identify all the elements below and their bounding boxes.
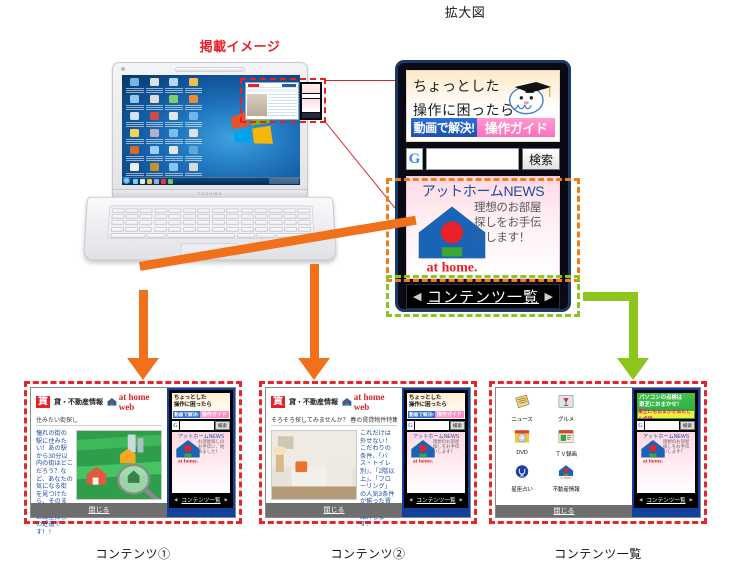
icon-item-dvd[interactable]: DVD (500, 429, 544, 458)
panel2-header-title: 貸・不動産情報 (289, 397, 338, 407)
green-arrow-stem (629, 292, 638, 362)
panel2-mini-news-copy: 理想のお部屋探しをお手伝いします！ (433, 439, 463, 455)
webcam-icon (121, 67, 125, 71)
icon-label-gourmet: グルメ (544, 415, 588, 423)
panel2-mini-prev-icon[interactable]: ◀ (409, 497, 412, 503)
panel2-google-g-icon: G (407, 421, 414, 430)
orange-dashed-highlight (386, 178, 580, 282)
icon-label-dvd: DVD (500, 450, 544, 456)
content-panel-2[interactable]: 賃 貸・不動産情報 at home web そろそろ探してみませんか？ 春の賃貸… (259, 381, 477, 524)
panel2-mini-banner-line2: 操作に困ったら (409, 402, 465, 408)
wine-glass-icon (558, 394, 574, 409)
mini-popup-window (245, 82, 299, 120)
panel3-mini-banner-line1: パソコンの点検は (639, 395, 695, 401)
panel2-thumbnail[interactable] (271, 430, 357, 500)
orange-arrow-mid-head (298, 358, 330, 380)
content-panel-3[interactable]: ニュース グルメ (489, 381, 707, 524)
panel3-mini-next-icon[interactable]: ▶ (690, 497, 693, 503)
icon-item-news[interactable]: ニュース (500, 394, 544, 423)
tag-video-solution: 動画で解決! (411, 118, 477, 137)
content-panel-1[interactable]: 賃 貸・不動産情報 at home web 住みたい街探し 憧れの街の駅に住みた… (24, 381, 242, 524)
ghost-graduate-mascot-icon (503, 77, 553, 117)
panel1-mini-bar[interactable]: ◀ コンテンツ一覧 ▶ (172, 495, 230, 505)
panel1-header-title: 貸・不動産情報 (54, 397, 103, 407)
panel3-icon-grid: ニュース グルメ (496, 388, 632, 505)
icon-label-tv-recording: ＴＶ録画 (544, 450, 588, 458)
panel2-body: これだけは外せない！こだわりの条件、「バス・トイレ別」、「2階以上」、「フローリ… (266, 427, 402, 503)
panel1-body: 憧れの街の駅に住みたい！あの駅から30分以内の街はどこだろう？など、あなたの気に… (31, 427, 167, 503)
panel2-mini-search-button[interactable]: 検索 (450, 421, 465, 430)
panel2-main: 賃 貸・不動産情報 at home web そろそろ探してみませんか？ 春の賃貸… (266, 388, 402, 517)
panel1-subbar: 住みたい街探し (36, 415, 162, 426)
icon-label-news: ニュース (500, 415, 544, 423)
mini-side-banner (300, 82, 322, 120)
published-image-title: 掲載イメージ (175, 36, 305, 55)
tv-recording-icon (558, 429, 574, 444)
panel3-footer: 閉じる (496, 505, 632, 517)
panel2-mini-search-input[interactable] (415, 421, 449, 430)
panel2-mini-phone: ちょっとした 操作に困ったら 動画で解決! 操作ガイド G 検索 アットホームN… (404, 390, 468, 508)
guide-banner-tags: 動画で解決! 操作ガイド (411, 118, 555, 137)
panel1-mini-tag2: 操作ガイド (200, 411, 229, 418)
panel3-main: ニュース グルメ (496, 388, 632, 517)
panel2-close-link[interactable]: 閉じる (324, 505, 345, 515)
icon-label-realestate: 不動産情報 (544, 485, 588, 493)
panel2-mini-tag2: 操作ガイド (435, 411, 464, 418)
green-arrow-head (617, 358, 649, 380)
svg-text:at home.: at home. (643, 459, 664, 464)
panel1-side: ちょっとした 操作に困ったら 動画で解決! 操作ガイド G 検索 アットホームN… (167, 388, 235, 517)
icon-item-realestate[interactable]: at home 不動産情報 (544, 464, 588, 493)
at-home-house-icon (107, 397, 117, 407)
svg-text:at home.: at home. (178, 459, 199, 464)
panel2-mini-search: G 検索 (407, 421, 465, 430)
panel2-badge: 賃 (271, 396, 285, 408)
panel2-footer: 閉じる (266, 503, 402, 517)
laptop-bezel-strip (175, 67, 245, 72)
orange-arrow-mid-stem (310, 264, 319, 362)
panel2-caption: コンテンツ② (298, 545, 438, 562)
panel2-mini-bar[interactable]: ◀ コンテンツ一覧 ▶ (407, 495, 465, 505)
panel1-header: 賃 貸・不動産情報 at home web (31, 388, 167, 414)
panel3-google-g-icon: G (637, 421, 644, 430)
house-icon: at home (558, 464, 574, 479)
panel3-mini-phone: パソコンの点検は 東芝におまかせ！ 東芝にもおまかせあんしん点検 G 検索 アッ… (634, 390, 698, 508)
laptop-keyboard (107, 205, 314, 239)
panel2-brand-text: at home web (354, 392, 397, 412)
zoom-view-title: 拡大図 (405, 2, 525, 21)
panel1-mini-bar-label[interactable]: コンテンツ一覧 (181, 496, 220, 504)
icon-item-horoscope[interactable]: 星座占い (500, 464, 544, 493)
panel1-mini-prev-icon[interactable]: ◀ (174, 497, 177, 503)
panel1-brand: at home web (107, 392, 162, 412)
panel3-caption: コンテンツ一覧 (528, 545, 668, 562)
orange-arrow-left-head (127, 358, 159, 380)
panel2-mini-banner-line1: ちょっとした (409, 395, 465, 401)
search-input[interactable] (426, 148, 519, 170)
svg-text:at home: at home (560, 476, 572, 479)
panel3-side: パソコンの点検は 東芝におまかせ！ 東芝にもおまかせあんしん点検 G 検索 アッ… (632, 388, 700, 517)
panel1-mini-search-input[interactable] (180, 421, 214, 430)
system-tray (269, 178, 299, 184)
dvd-disc-icon (514, 429, 530, 444)
connector-line-top (326, 80, 400, 81)
panel1-brand-text: at home web (119, 392, 162, 412)
panel3-mini-search-button[interactable]: 検索 (680, 421, 695, 430)
search-button[interactable]: 検索 (522, 148, 560, 170)
tag-operation-guide: 操作ガイド (477, 118, 555, 137)
panel1-mini-search-button[interactable]: 検索 (215, 421, 230, 430)
panel1-mini-next-icon[interactable]: ▶ (225, 497, 228, 503)
panel1-mini-banner-line2: 操作に困ったら (174, 402, 230, 408)
panel2-mini-tag1: 動画で解決! (408, 411, 435, 418)
green-dashed-highlight (386, 275, 580, 317)
newspaper-icon (514, 394, 530, 409)
orange-arrow-left-stem (139, 290, 148, 362)
horoscope-icon (514, 464, 530, 479)
desktop-icons (125, 78, 203, 180)
google-g-logo-icon: G (406, 148, 423, 170)
panel2-mini-bar-label[interactable]: コンテンツ一覧 (416, 496, 455, 504)
icon-item-gourmet[interactable]: グルメ (544, 394, 588, 423)
panel1-close-link[interactable]: 閉じる (89, 505, 110, 515)
panel1-main: 賃 貸・不動産情報 at home web 住みたい街探し 憧れの街の駅に住みた… (31, 388, 167, 517)
panel3-mini-news: アットホームNEWS at home. 理想のお部屋探しをお手伝いします！ (637, 432, 695, 493)
panel2-copy: これだけは外せない！こだわりの条件、「バス・トイレ別」、「2階以上」、「フローリ… (360, 430, 397, 500)
panel1-mini-search: G 検索 (172, 421, 230, 430)
panel1-mini-phone: ちょっとした 操作に困ったら 動画で解決! 操作ガイド G 検索 アットホームN… (169, 390, 233, 508)
panel1-caption: コンテンツ① (63, 545, 203, 562)
panel1-mini-news-copy: お部屋探しのお手伝い、始めました！ (198, 439, 228, 455)
panel3-mini-tag1: 東芝にもおまかせあんしん点検 (638, 411, 694, 418)
panel3-mini-search-input[interactable] (645, 421, 679, 430)
panel3-mini-bar-label[interactable]: コンテンツ一覧 (646, 496, 685, 504)
panel3-mini-prev-icon[interactable]: ◀ (639, 497, 642, 503)
start-button-icon (123, 177, 130, 184)
panel3-mini-news-copy: 理想のお部屋探しをお手伝いします！ (663, 439, 693, 455)
panel3-close-link[interactable]: 閉じる (554, 506, 575, 516)
panel2-side: ちょっとした 操作に困ったら 動画で解決! 操作ガイド G 検索 アットホームN… (402, 388, 470, 517)
popup-highlight-box (240, 78, 326, 123)
panel1-mini-tag1: 動画で解決! (173, 411, 200, 418)
icon-item-tv-recording[interactable]: ＴＶ録画 (544, 429, 588, 458)
panel1-copy: 憧れの街の駅に住みたい！あの駅から30分以内の街はどこだろう？など、あなたの気に… (36, 430, 73, 500)
panel1-google-g-icon: G (172, 421, 179, 430)
guide-banner[interactable]: ちょっとした 操作に困ったら 動画で解決! 操作ガイド (406, 70, 560, 142)
panel1-mini-news: アットホームNEWS at home. お部屋探しのお手伝い、始めました！ (172, 432, 230, 493)
panel1-mini-banner: ちょっとした 操作に困ったら 動画で解決! 操作ガイド (172, 393, 230, 419)
at-home-house-icon (342, 397, 352, 407)
panel2-brand: at home web (342, 392, 397, 412)
svg-text:at home.: at home. (413, 459, 434, 464)
panel1-footer: 閉じる (31, 503, 167, 517)
panel3-mini-search: G 検索 (637, 421, 695, 430)
panel1-mini-banner-line1: ちょっとした (174, 395, 230, 401)
panel1-badge: 賃 (36, 396, 50, 408)
panel3-mini-bar[interactable]: ◀ コンテンツ一覧 ▶ (637, 495, 695, 505)
panel1-thumbnail[interactable] (76, 430, 162, 500)
panel2-subbar: そろそろ探してみませんか？ 春の賃貸物件特集 (271, 415, 397, 426)
taskbar (122, 177, 300, 185)
panel2-mini-news: アットホームNEWS at home. 理想のお部屋探しをお手伝いします！ (407, 432, 465, 493)
panel2-mini-banner: ちょっとした 操作に困ったら 動画で解決! 操作ガイド (407, 393, 465, 419)
panel3-mini-banner: パソコンの点検は 東芝におまかせ！ 東芝にもおまかせあんしん点検 (637, 393, 695, 419)
search-bar: G 検索 (406, 148, 560, 170)
panel2-mini-next-icon[interactable]: ▶ (460, 497, 463, 503)
panel2-header: 賃 貸・不動産情報 at home web (266, 388, 402, 414)
icon-label-horoscope: 星座占い (500, 485, 544, 493)
